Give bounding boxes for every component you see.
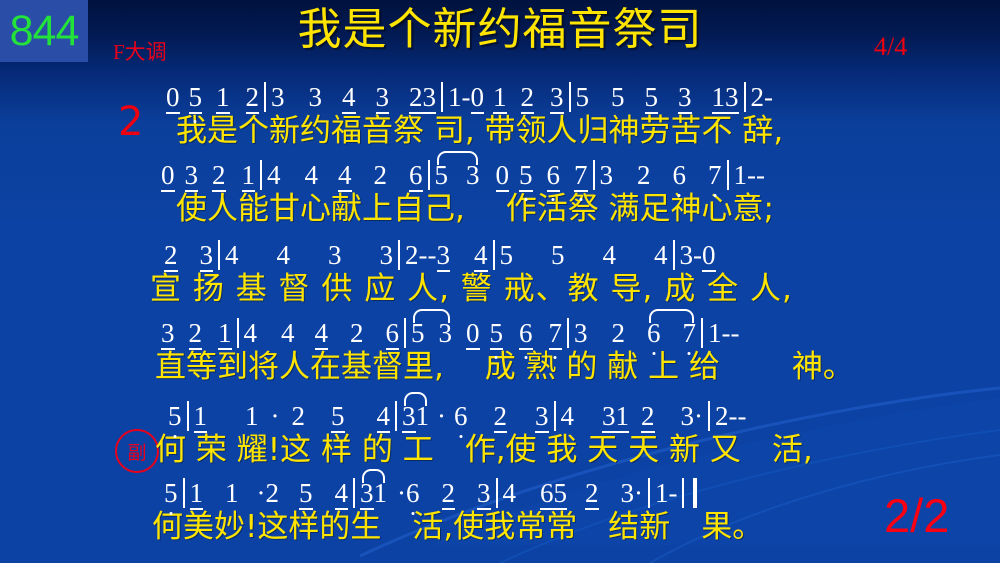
note: 5 — [435, 162, 449, 189]
note: 6 — [454, 403, 468, 430]
note: 1 — [194, 403, 208, 433]
barline — [187, 401, 189, 431]
note: · — [437, 403, 446, 430]
notation-row: 2344332--3455443-0 — [0, 240, 1000, 274]
note: - — [669, 480, 678, 507]
note: 3 — [161, 320, 175, 350]
note: 2 — [494, 403, 508, 433]
note: 5 — [490, 320, 504, 350]
note: 2 — [715, 403, 729, 430]
music-score: 05123343231-01235553132- 我是个新约福音祭 司, 带领人… — [0, 0, 1000, 563]
note: 13 — [712, 84, 739, 114]
note: 2 — [189, 320, 203, 350]
note: 2 — [405, 242, 419, 269]
lyric-row: 何 荣 耀!这 样 的 工 作,使 我 天 天 新 又 活, — [0, 435, 1000, 475]
note: 3 — [380, 242, 394, 269]
barline — [260, 160, 262, 190]
note: 3 — [600, 162, 614, 189]
note: 2 — [641, 403, 655, 433]
note: 5 — [411, 320, 425, 347]
note: 7 — [683, 320, 697, 347]
barline — [428, 160, 430, 190]
note: 3 — [360, 480, 374, 510]
note: 1 — [242, 162, 256, 192]
note: 6 — [519, 320, 533, 350]
note: 0 — [466, 320, 480, 350]
note: 2 — [266, 480, 280, 507]
note: 2 — [751, 84, 765, 111]
final-barline — [682, 478, 697, 508]
slur: 67 — [647, 320, 696, 347]
score-system: 03214442653056732671-- 使人能甘心献上自己, 作活祭 满足… — [0, 160, 1000, 234]
note: 3 — [680, 242, 694, 269]
note: 1 — [216, 84, 230, 114]
note: - — [764, 84, 773, 111]
note: 6 — [673, 162, 687, 189]
note: 65 — [540, 480, 567, 510]
note: 23 — [409, 84, 436, 114]
barline — [353, 478, 355, 508]
barline — [183, 478, 185, 508]
barline — [218, 240, 220, 270]
note: 2 — [292, 403, 306, 430]
note: - — [722, 320, 731, 347]
note: 1 — [190, 480, 204, 510]
note: 4 — [338, 162, 352, 192]
note: 4 — [335, 480, 349, 510]
note: 5 — [519, 162, 533, 192]
barline — [593, 160, 595, 190]
lyric-row: 宣 扬 基 督 供 应 人, 警 戒、教 导, 成 全 人, — [0, 274, 1000, 314]
note: - — [729, 403, 738, 430]
note: - — [756, 162, 765, 189]
note: - — [428, 242, 437, 269]
barline — [708, 401, 710, 431]
note: 4 — [225, 242, 239, 269]
note: 1 — [734, 162, 748, 189]
lyric-row: 我是个新约福音祭 司, 带领人归神劳苦不 辞, — [0, 116, 1000, 156]
note: 2 — [374, 162, 388, 189]
note: · — [634, 480, 643, 507]
note: 3 — [271, 84, 285, 111]
note: 3 — [681, 403, 695, 430]
note: 4 — [603, 242, 617, 269]
note: 5 — [551, 242, 565, 269]
note: 3 — [466, 162, 480, 189]
slur: 31 — [360, 480, 387, 510]
note: 2 — [612, 320, 626, 347]
barline — [264, 82, 266, 112]
note: 6 — [406, 480, 420, 507]
score-system: 511·25431·62346523·1- 何美妙!这样的生 活,使我常常 结新… — [0, 478, 1000, 552]
note: 1 — [493, 84, 507, 114]
barline — [648, 478, 650, 508]
barline — [398, 240, 400, 270]
note: 5 — [189, 84, 203, 114]
note: 5 — [164, 480, 178, 507]
note: - — [693, 242, 702, 269]
note: 6 — [386, 320, 400, 350]
barline — [569, 82, 571, 112]
note: 3 — [678, 84, 692, 114]
note: · — [397, 480, 406, 507]
barline — [727, 160, 729, 190]
note: 4 — [342, 84, 356, 114]
note: 3 — [402, 403, 416, 433]
note: - — [419, 242, 428, 269]
note: 3 — [328, 242, 342, 269]
note: 2 — [246, 84, 260, 114]
note: 2 — [212, 162, 226, 192]
score-system: 511·25431·62343123·2-- 何 荣 耀!这 样 的 工 作,使… — [0, 401, 1000, 475]
barline — [744, 82, 746, 112]
note: 4 — [377, 403, 391, 433]
lyric-row: 何美妙!这样的生 活,使我常常 结新 果。 — [0, 512, 1000, 552]
note: 4 — [277, 242, 291, 269]
note: 4 — [503, 480, 517, 507]
slur: 53 — [435, 162, 480, 189]
note: 5 — [645, 84, 659, 114]
lyric-row: 直等到将人在基督里, 成 熟 的 献 上 给 神。 — [0, 352, 1000, 392]
barline — [567, 318, 569, 348]
notation-row: 511·25431·62346523·1- — [0, 478, 1000, 512]
barline — [404, 318, 406, 348]
barline — [701, 318, 703, 348]
note: 1 — [708, 320, 722, 347]
notation-row: 511·25431·62343123·2-- — [0, 401, 1000, 435]
note: 2 — [637, 162, 651, 189]
note: 1 — [374, 480, 388, 507]
note: 3 — [574, 320, 588, 347]
notation-row: 05123343231-01235553132- — [0, 82, 1000, 116]
note: 5 — [611, 84, 625, 111]
note: 3 — [437, 242, 451, 272]
note: - — [731, 320, 740, 347]
note: 4 — [654, 242, 668, 269]
note: 7 — [574, 162, 588, 192]
note: 5 — [331, 403, 345, 433]
note: 0 — [496, 162, 510, 192]
note: 5 — [576, 84, 590, 111]
note: 6 — [647, 320, 661, 347]
lyric-row: 使人能甘心献上自己, 作活祭 满足神心意; — [0, 194, 1000, 234]
note: 3 — [309, 84, 323, 111]
note: 7 — [549, 320, 563, 350]
note: 1 — [448, 84, 462, 111]
note: 5 — [500, 242, 514, 269]
score-system: 05123343231-01235553132- 我是个新约福音祭 司, 带领人… — [0, 82, 1000, 156]
note: - — [738, 403, 747, 430]
note: 31 — [602, 403, 629, 433]
note: 2 — [164, 242, 178, 272]
note: 4 — [244, 320, 258, 347]
note: 4 — [315, 320, 329, 350]
note: 1 — [225, 480, 239, 507]
notation-row: 03214442653056732671-- — [0, 160, 1000, 194]
note: 4 — [474, 242, 488, 272]
note: 6 — [409, 162, 423, 192]
barline — [395, 401, 397, 431]
score-system: 2344332--3455443-0 宣 扬 基 督 供 应 人, 警 戒、教 … — [0, 240, 1000, 314]
note: · — [257, 480, 266, 507]
note: 3 — [621, 480, 635, 507]
note: 5 — [299, 480, 313, 510]
note: 4 — [267, 162, 281, 189]
note: 4 — [281, 320, 295, 347]
note: 3 — [439, 320, 453, 347]
note: 2 — [521, 84, 535, 114]
slur: 53 — [411, 320, 452, 347]
note: 3 — [477, 480, 491, 510]
score-system: 3214442653056732671-- 直等到将人在基督里, 成 熟 的 献… — [0, 318, 1000, 392]
note: · — [694, 403, 703, 430]
note: 0 — [166, 84, 180, 114]
note: 1 — [655, 480, 669, 507]
note: 3 — [535, 403, 549, 433]
barline — [496, 478, 498, 508]
note: 5 — [168, 403, 182, 430]
note: 2 — [585, 480, 599, 510]
barline — [441, 82, 443, 112]
notation-row: 3214442653056732671-- — [0, 318, 1000, 352]
note: 0 — [702, 242, 716, 272]
slur: 31 — [402, 403, 429, 433]
barline — [673, 240, 675, 270]
note: 2 — [442, 480, 456, 510]
note: 4 — [305, 162, 319, 189]
barline — [554, 401, 556, 431]
note: 3 — [185, 162, 199, 192]
note: 4 — [561, 403, 575, 430]
note: - — [747, 162, 756, 189]
note: 1 — [218, 320, 232, 350]
note: 1 — [245, 403, 259, 430]
note: 3 — [550, 84, 564, 114]
note: 3 — [376, 84, 390, 114]
note: · — [271, 403, 280, 430]
note: 6 — [547, 162, 561, 192]
note: - — [462, 84, 471, 111]
note: 0 — [471, 84, 485, 114]
note: 7 — [708, 162, 722, 189]
note: 1 — [416, 403, 430, 430]
note: 3 — [200, 242, 214, 272]
note: 2 — [350, 320, 364, 347]
barline — [237, 318, 239, 348]
note: 0 — [161, 162, 175, 192]
barline — [493, 240, 495, 270]
